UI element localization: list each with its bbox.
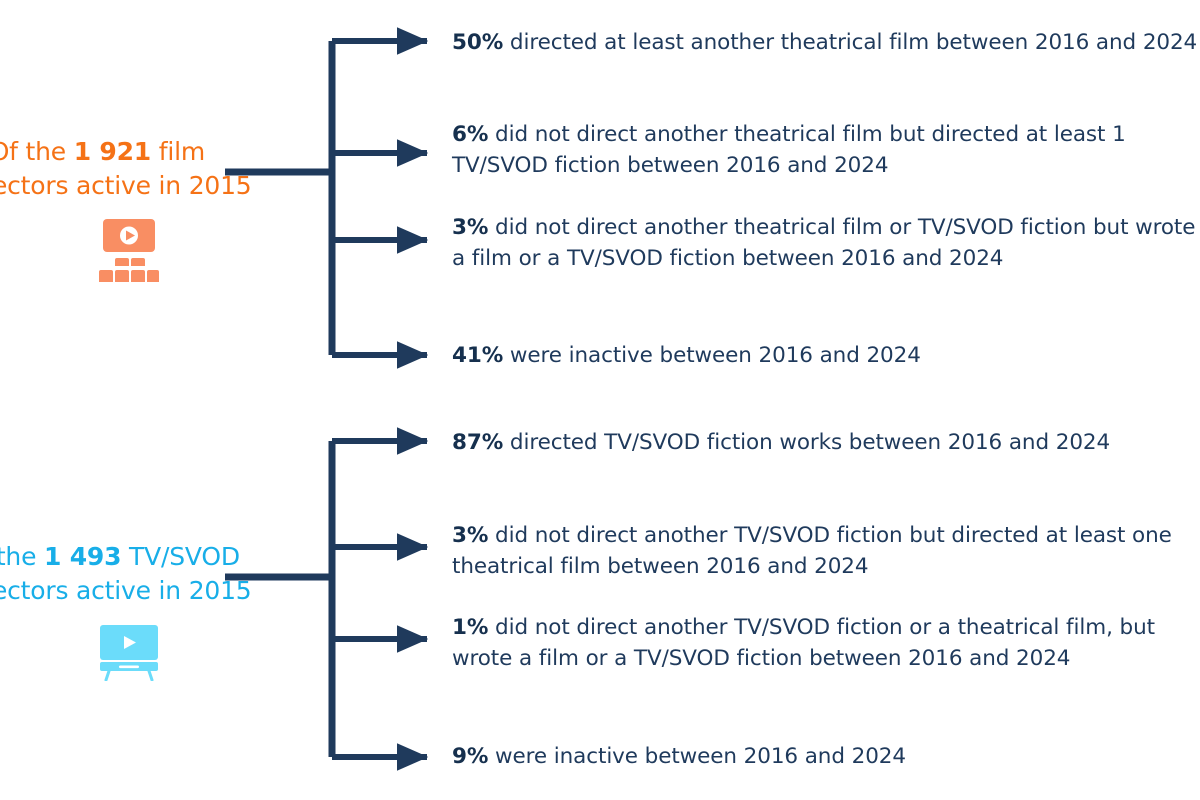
film-item-4: 41% were inactive between 2016 and 2024 xyxy=(452,341,1200,372)
tvsvod-item-2-percent: 3% xyxy=(452,523,488,548)
tvsvod-label-suffix: TV/SVOD xyxy=(121,542,240,571)
group-tvsvod-directors: Of the 1 493 TV/SVOD directors active in… xyxy=(0,400,1200,800)
film-item-3-text: did not direct another theatrical film o… xyxy=(452,215,1195,271)
tvsvod-item-3-percent: 1% xyxy=(452,615,488,640)
tvsvod-label-prefix: Of the xyxy=(0,542,44,571)
tvsvod-group-label: Of the 1 493 TV/SVOD directors active in… xyxy=(0,540,205,681)
tvsvod-icon-wrap xyxy=(0,623,205,681)
tvsvod-label-count: 1 493 xyxy=(44,542,121,571)
tvsvod-item-2: 3% did not direct another TV/SVOD fictio… xyxy=(452,521,1200,582)
tvsvod-item-1: 87% directed TV/SVOD fiction works betwe… xyxy=(452,428,1200,459)
tvsvod-item-4-text: were inactive between 2016 and 2024 xyxy=(488,744,906,769)
film-group-label: Of the 1 921 film directors active in 20… xyxy=(0,135,205,284)
film-item-4-percent: 41% xyxy=(452,343,503,368)
film-item-1-text: directed at least another theatrical fil… xyxy=(503,30,1197,55)
film-icon-wrap xyxy=(0,218,205,284)
television-play-icon xyxy=(95,623,163,681)
tvsvod-item-2-text: did not direct another TV/SVOD fiction b… xyxy=(452,523,1172,579)
film-item-3: 3% did not direct another theatrical fil… xyxy=(452,213,1200,274)
film-item-3-percent: 3% xyxy=(452,215,488,240)
group-film-directors: Of the 1 921 film directors active in 20… xyxy=(0,0,1200,400)
tvsvod-item-3-text: did not direct another TV/SVOD fiction o… xyxy=(452,615,1155,671)
film-item-2: 6% did not direct another theatrical fil… xyxy=(452,120,1200,181)
film-label-prefix: Of the xyxy=(0,137,74,166)
tvsvod-item-1-percent: 87% xyxy=(452,430,503,455)
film-label-suffix: film xyxy=(151,137,205,166)
film-item-1-percent: 50% xyxy=(452,30,503,55)
tvsvod-label-line2: directors active in 2015 xyxy=(0,574,205,608)
film-item-4-text: were inactive between 2016 and 2024 xyxy=(503,343,921,368)
film-label-line1: Of the 1 921 film xyxy=(0,135,205,169)
film-item-2-percent: 6% xyxy=(452,122,488,147)
film-label-count: 1 921 xyxy=(74,137,151,166)
tvsvod-label-line1: Of the 1 493 TV/SVOD xyxy=(0,540,205,574)
tvsvod-item-1-text: directed TV/SVOD fiction works between 2… xyxy=(503,430,1110,455)
cinema-screen-audience-icon xyxy=(95,218,163,284)
film-label-line2: directors active in 2015 xyxy=(0,169,205,203)
film-item-1: 50% directed at least another theatrical… xyxy=(452,28,1200,59)
tvsvod-item-3: 1% did not direct another TV/SVOD fictio… xyxy=(452,613,1200,674)
tvsvod-item-4-percent: 9% xyxy=(452,744,488,769)
film-item-2-text: did not direct another theatrical film b… xyxy=(452,122,1126,178)
tvsvod-item-4: 9% were inactive between 2016 and 2024 xyxy=(452,742,1200,773)
